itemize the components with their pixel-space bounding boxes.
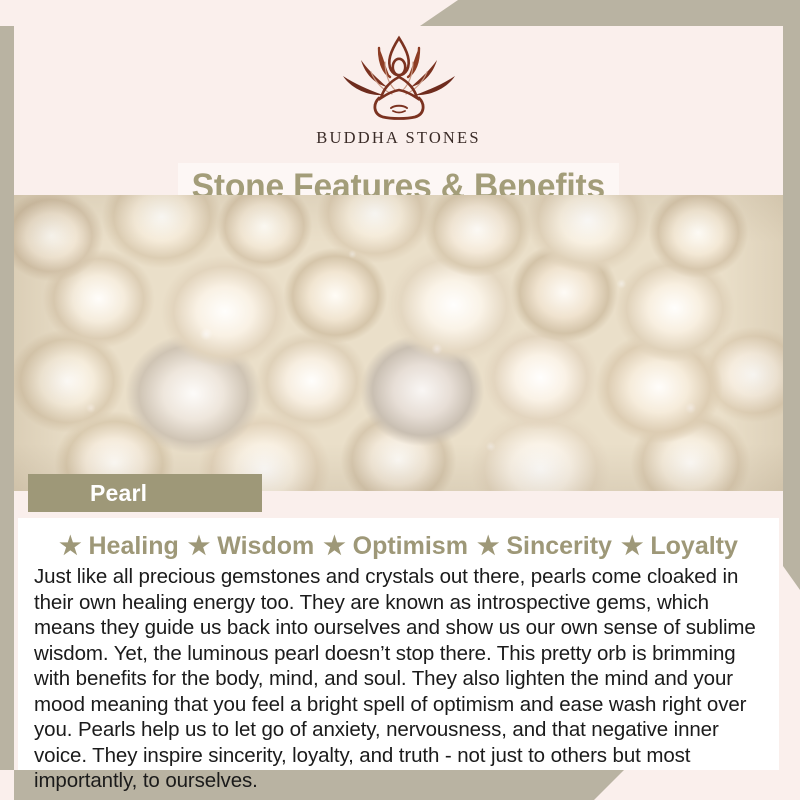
keyword-label: Sincerity (506, 532, 612, 561)
description-panel: ★ Healing ★ Wisdom ★ Optimism ★ Sincerit… (18, 518, 779, 770)
keyword-label: Optimism (353, 532, 468, 561)
infographic-page: BUDDHA STONES Stone Features & Benefits … (0, 0, 800, 800)
decorative-band-right (783, 26, 800, 590)
brand-name: BUDDHA STONES (316, 128, 480, 148)
keyword-list: ★ Healing ★ Wisdom ★ Optimism ★ Sincerit… (34, 532, 763, 561)
pearl-photo-vignette (14, 195, 783, 491)
star-icon: ★ (59, 534, 81, 559)
stone-name-label: Pearl (90, 480, 147, 507)
brand-logo: BUDDHA STONES (14, 32, 783, 148)
keyword-loyalty: ★ Loyalty (612, 532, 738, 561)
star-icon: ★ (477, 534, 499, 559)
pearl-photo (14, 195, 783, 491)
keyword-sincerity: ★ Sincerity (468, 532, 612, 561)
keyword-healing: ★ Healing (59, 532, 179, 561)
decorative-band-left (0, 26, 14, 770)
keyword-label: Loyalty (650, 532, 738, 561)
star-icon: ★ (621, 534, 643, 559)
keyword-label: Healing (89, 532, 179, 561)
lotus-meditation-icon (335, 32, 463, 124)
description-text: Just like all precious gemstones and cry… (34, 564, 763, 794)
stone-name-bar: Pearl (28, 474, 262, 512)
star-icon: ★ (323, 534, 345, 559)
keyword-optimism: ★ Optimism (314, 532, 468, 561)
keyword-label: Wisdom (217, 532, 314, 561)
keyword-wisdom: ★ Wisdom (179, 532, 314, 561)
decorative-band-top-right (420, 0, 800, 26)
content-card: BUDDHA STONES Stone Features & Benefits … (14, 26, 783, 770)
star-icon: ★ (188, 534, 210, 559)
